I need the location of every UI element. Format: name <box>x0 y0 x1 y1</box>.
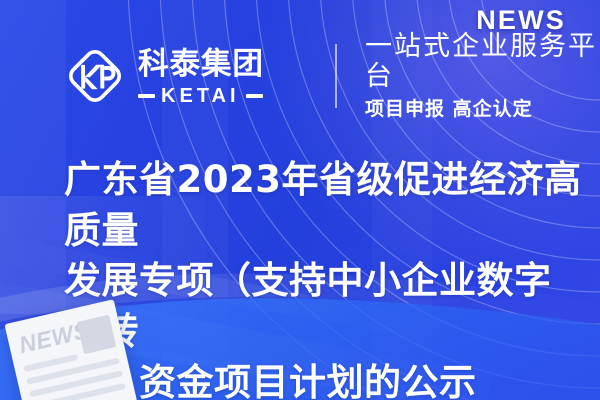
logo-name-cn: 科泰集团 <box>138 46 309 82</box>
logo-wordmark: 科泰集团 KETAI <box>138 46 309 106</box>
banner-header: 科泰集团 KETAI 一站式企业服务平台 项目申报 高企认定 <box>62 40 600 112</box>
tagline-primary: 一站式企业服务平台 <box>365 32 600 92</box>
tagline-secondary: 项目申报 高企认定 <box>365 99 600 120</box>
tagline-block: 一站式企业服务平台 项目申报 高企认定 <box>365 32 600 120</box>
page-title-line-2: 发展专项（支持中小企业数字化转 <box>64 256 584 357</box>
logo-dash-left-icon <box>138 94 155 98</box>
logo-name-en: KETAI <box>161 86 240 106</box>
news-banner: NEWS 科泰集团 <box>0 0 600 400</box>
header-divider <box>335 44 337 108</box>
logo-name-en-row: KETAI <box>138 86 309 106</box>
ketai-diamond-kp-logo-icon[interactable] <box>62 43 128 109</box>
svg-text:科泰集团: 科泰集团 <box>138 47 264 82</box>
page-title-line-1: 广东省2023年省级促进经济高质量 <box>64 155 584 256</box>
logo-dash-right-icon <box>246 94 263 98</box>
